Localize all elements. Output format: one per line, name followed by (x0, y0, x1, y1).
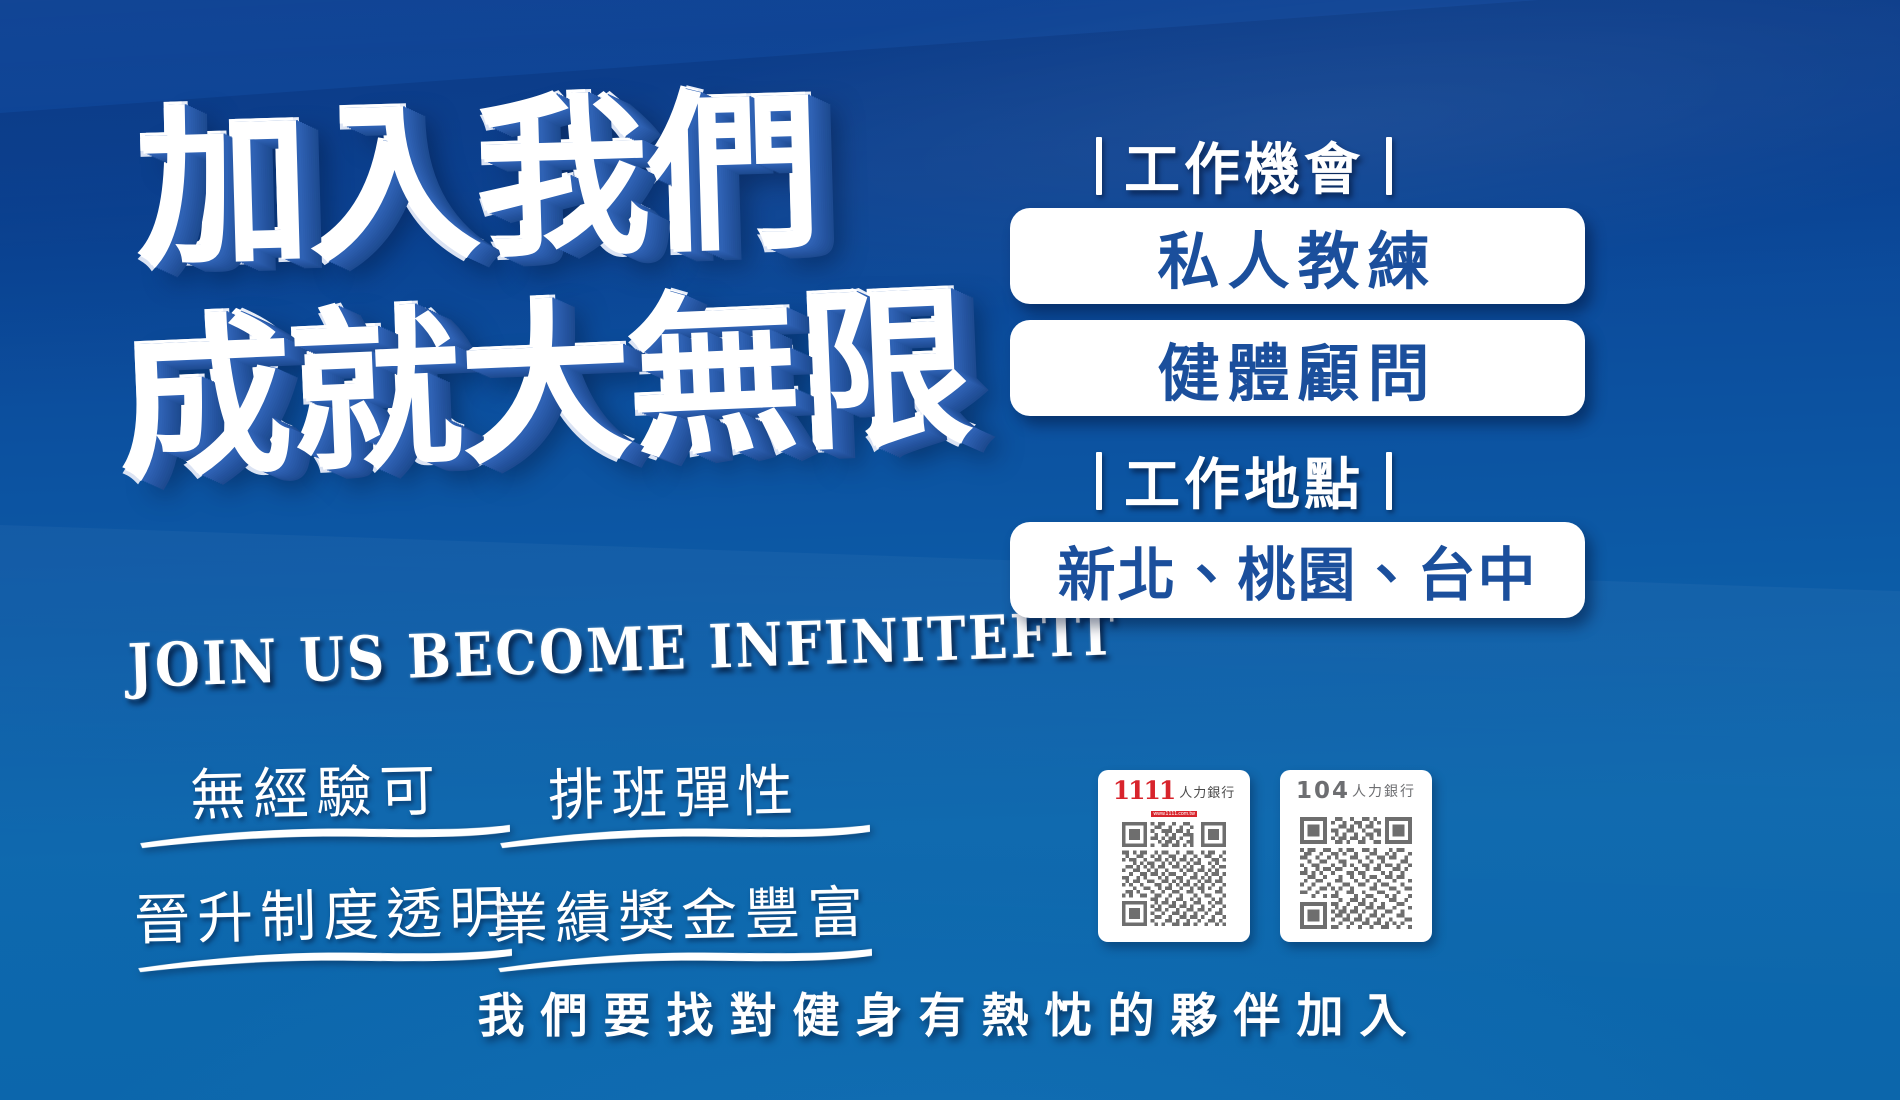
benefit-column-left: 無經驗可 晉升制度透明 (130, 748, 550, 968)
qr-code-icon[interactable] (1297, 817, 1415, 934)
brand-mark-suffix: 4 (1332, 778, 1347, 804)
qr-card-104[interactable]: 104 人力銀行 (1280, 770, 1432, 942)
info-column: 工作機會 私人教練 健體顧問 工作地點 新北、桃園、台中 1111 人力銀行 w… (1010, 0, 1900, 1100)
job-pill-label: 健體顧問 (1157, 323, 1437, 413)
brand-url-text: www.1111.com.tw (1151, 811, 1197, 817)
headline-line-1: 加入我們 (136, 87, 821, 278)
section-label-text: 工作機會 (1124, 125, 1364, 206)
brand-mark-prefix: 1 (1296, 778, 1311, 804)
bottom-tagline: 我們要找對健身有熱忱的夥伴加入 (0, 977, 1900, 1046)
brand-name-text: 人力銀行 (1179, 782, 1235, 801)
headline-line-2: 成就大無限 (117, 282, 973, 489)
location-pill-label: 新北、桃園、台中 (1057, 528, 1537, 612)
job-pill-personal-trainer[interactable]: 私人教練 (1010, 208, 1585, 304)
qr-code-row: 1111 人力銀行 www.1111.com.tw (1098, 770, 1432, 942)
brand-logo-1111: 1111 人力銀行 (1106, 778, 1242, 804)
label-bar-left-icon (1096, 137, 1102, 195)
benefits-group: 無經驗可 晉升制度透明 排班彈性 (0, 748, 1010, 928)
benefit-column-right: 排班彈性 業績獎金豐富 (490, 748, 910, 968)
job-pill-label: 私人教練 (1157, 211, 1437, 301)
section-label-work-location: 工作地點 (1096, 440, 1392, 521)
qr-card-1111[interactable]: 1111 人力銀行 www.1111.com.tw (1098, 770, 1250, 942)
qr-code-icon[interactable] (1115, 822, 1233, 931)
label-bar-left-icon (1096, 452, 1102, 510)
job-pill-fitness-consultant[interactable]: 健體顧問 (1010, 320, 1585, 416)
label-bar-right-icon (1386, 452, 1392, 510)
headline-subtitle-english: JOIN US BECOME INFINITEFIT (127, 599, 1118, 702)
location-pill[interactable]: 新北、桃園、台中 (1010, 522, 1585, 618)
brand-name-text: 人力銀行 (1352, 781, 1416, 801)
brand-logo-104: 104 人力銀行 (1288, 778, 1424, 804)
headline-column: 加入我們 成就大無限 JOIN US BECOME INFINITEFIT 無經… (0, 0, 1010, 1100)
recruitment-banner: 加入我們 成就大無限 JOIN US BECOME INFINITEFIT 無經… (0, 0, 1900, 1100)
section-label-text: 工作地點 (1124, 440, 1364, 521)
section-label-job-opportunities: 工作機會 (1096, 125, 1392, 206)
label-bar-right-icon (1386, 137, 1392, 195)
brand-mark-o: 0 (1314, 778, 1329, 804)
brand-mark-text: 1111 (1113, 780, 1175, 803)
